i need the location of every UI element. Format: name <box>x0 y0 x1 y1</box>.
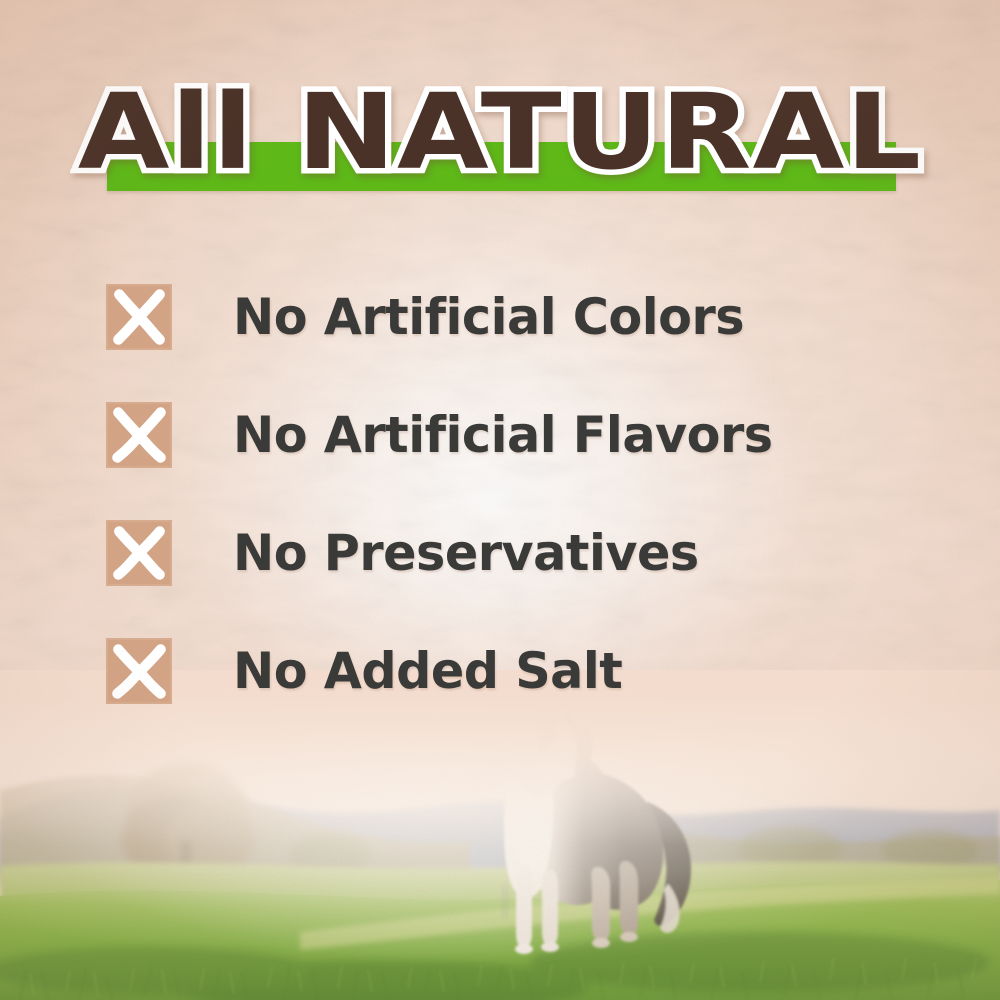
checkbox-no-preservatives[interactable] <box>106 520 172 586</box>
list-item: No Artificial Flavors <box>106 376 926 494</box>
feature-label: No Added Salt <box>233 643 622 699</box>
feature-label: No Artificial Colors <box>233 289 744 345</box>
feature-label: No Preservatives <box>233 525 699 581</box>
headline-banner: All NATURAL <box>0 72 1000 202</box>
list-item: No Preservatives <box>106 494 926 612</box>
x-mark-icon <box>108 522 170 584</box>
list-item: No Added Salt <box>106 612 926 730</box>
list-item: No Artificial Colors <box>106 258 926 376</box>
feature-list: No Artificial Colors No Artificial Flavo… <box>106 258 926 730</box>
x-mark-icon <box>108 286 170 348</box>
checkbox-no-added-salt[interactable] <box>106 638 172 704</box>
poster: All NATURAL No Artificial Colors No Arti… <box>0 0 1000 1000</box>
x-mark-icon <box>108 640 170 702</box>
checkbox-no-artificial-colors[interactable] <box>106 284 172 350</box>
page-title: All NATURAL <box>0 72 1000 192</box>
feature-label: No Artificial Flavors <box>233 407 773 463</box>
checkbox-no-artificial-flavors[interactable] <box>106 402 172 468</box>
x-mark-icon <box>108 404 170 466</box>
